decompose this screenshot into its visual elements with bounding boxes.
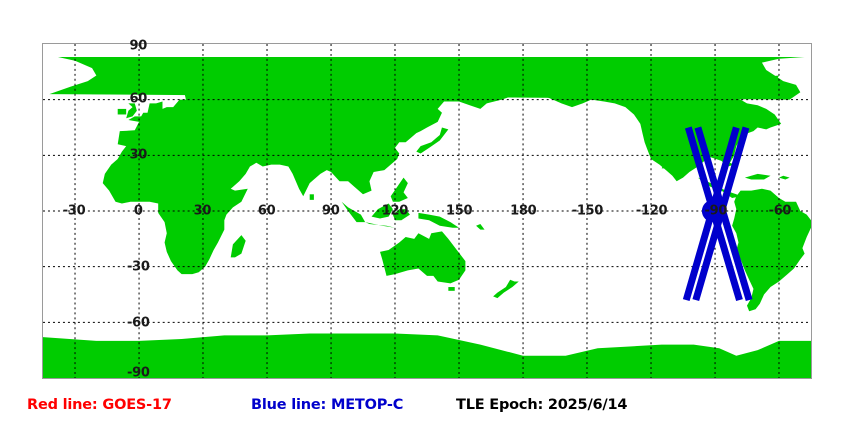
lon-tick--150: -150 [572, 205, 603, 218]
lat-tick--30: -30 [127, 261, 150, 274]
lon-tick-150: 150 [446, 205, 472, 218]
lon-tick-30: 30 [194, 205, 212, 218]
legend-tle-epoch: TLE Epoch: 2025/6/14 [456, 398, 627, 413]
lat-tick-60: 60 [130, 93, 148, 106]
lon-tick-60: 60 [258, 205, 276, 218]
lat-tick-30: 30 [130, 149, 148, 162]
legend-goes17: Red line: GOES-17 [27, 398, 172, 413]
satellite-ground-track-map: -300306090120150180-150-120-90-60906030-… [0, 0, 850, 425]
lon-tick--60: -60 [769, 205, 792, 218]
legend-metopc: Blue line: METOP-C [251, 398, 403, 413]
lon-tick-180: 180 [510, 205, 536, 218]
lat-tick-90: 90 [130, 39, 148, 52]
map-legend: Red line: GOES-17 Blue line: METOP-C TLE… [0, 392, 850, 420]
lon-tick-90: 90 [322, 205, 340, 218]
lon-tick--120: -120 [636, 205, 667, 218]
lon-tick-120: 120 [382, 205, 408, 218]
lat-tick--90: -90 [127, 366, 150, 379]
map-plot-frame [42, 43, 812, 379]
lon-tick--90: -90 [705, 205, 728, 218]
satellite-orbit-layer [43, 44, 811, 378]
lon-tick--30: -30 [63, 205, 86, 218]
lon-tick-0: 0 [134, 205, 143, 218]
lat-tick--60: -60 [127, 317, 150, 330]
